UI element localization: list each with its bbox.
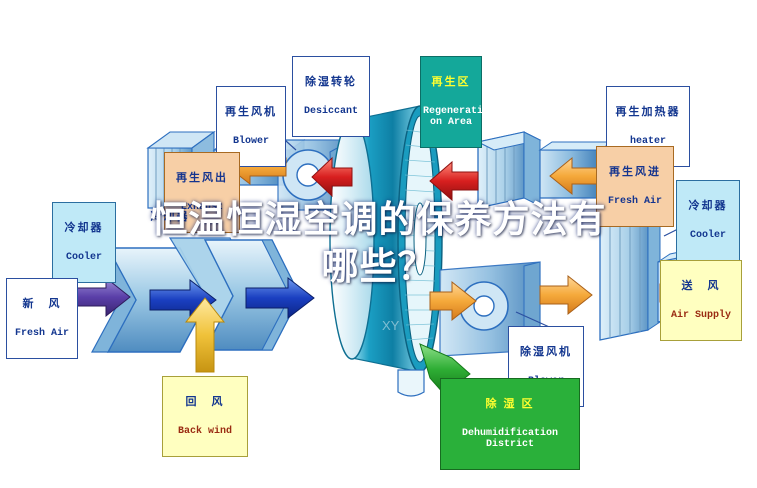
label-regeneration-fresh-air-in-en: Fresh Air (599, 196, 671, 207)
label-dehumidification-district-cn: 除 湿 区 (443, 398, 577, 410)
label-regeneration-area: 再生区 Regenerati on Area (420, 56, 482, 148)
label-air-supply-en: Air Supply (663, 310, 739, 321)
label-exhaust-air-cn: 再生风出 (167, 172, 237, 184)
label-regeneration-fresh-air-in: 再生风进 Fresh Air (596, 146, 674, 227)
diagram-canvas: XY 除湿转轮 Desiccant 再生风机 Blower 再生区 Regene… (0, 0, 757, 488)
label-cooler-right-en: Cooler (679, 230, 737, 241)
label-fresh-air: 新 风 Fresh Air (6, 278, 78, 359)
label-dehumidify-blower-cn: 除湿风机 (511, 346, 581, 358)
label-desiccant-wheel-cn: 除湿转轮 (295, 76, 367, 88)
label-cooler-left-cn: 冷却器 (55, 222, 113, 234)
label-cooler-top-center-cn: 冷却器 (142, 211, 198, 223)
label-dehumidification-district-en: Dehumidification District (443, 428, 577, 450)
label-dehumidification-district: 除 湿 区 Dehumidification District (440, 378, 580, 470)
arrow-to-cooler (540, 276, 592, 314)
label-cooler-left-en: Cooler (55, 252, 113, 263)
label-regeneration-blower-cn: 再生风机 (219, 106, 283, 118)
label-cooler-right-cn: 冷却器 (679, 200, 737, 212)
label-back-wind: 回 风 Back wind (162, 376, 248, 457)
label-regeneration-area-en: Regenerati on Area (423, 106, 479, 128)
label-air-supply-cn: 送 风 (663, 280, 739, 292)
label-fresh-air-cn: 新 风 (9, 298, 75, 310)
label-air-supply: 送 风 Air Supply (660, 260, 742, 341)
label-cooler-top-center: 冷却器 (140, 192, 200, 242)
regeneration-heater-coil (478, 132, 540, 208)
label-desiccant-wheel: 除湿转轮 Desiccant (292, 56, 370, 137)
label-cooler-left: 冷却器 Cooler (52, 202, 116, 283)
label-fresh-air-en: Fresh Air (9, 328, 75, 339)
label-regeneration-fresh-air-in-cn: 再生风进 (599, 166, 671, 178)
label-desiccant-wheel-en: Desiccant (295, 106, 367, 117)
label-back-wind-cn: 回 风 (165, 396, 245, 408)
label-regeneration-blower-en: Blower (219, 136, 283, 147)
label-back-wind-en: Back wind (165, 426, 245, 437)
wheel-drain-part (398, 370, 424, 396)
label-regeneration-area-cn: 再生区 (423, 76, 479, 88)
label-regeneration-heater-cn: 再生加热器 (609, 106, 687, 118)
label-cooler-right: 冷却器 Cooler (676, 180, 740, 261)
watermark-text: XY (382, 318, 400, 333)
